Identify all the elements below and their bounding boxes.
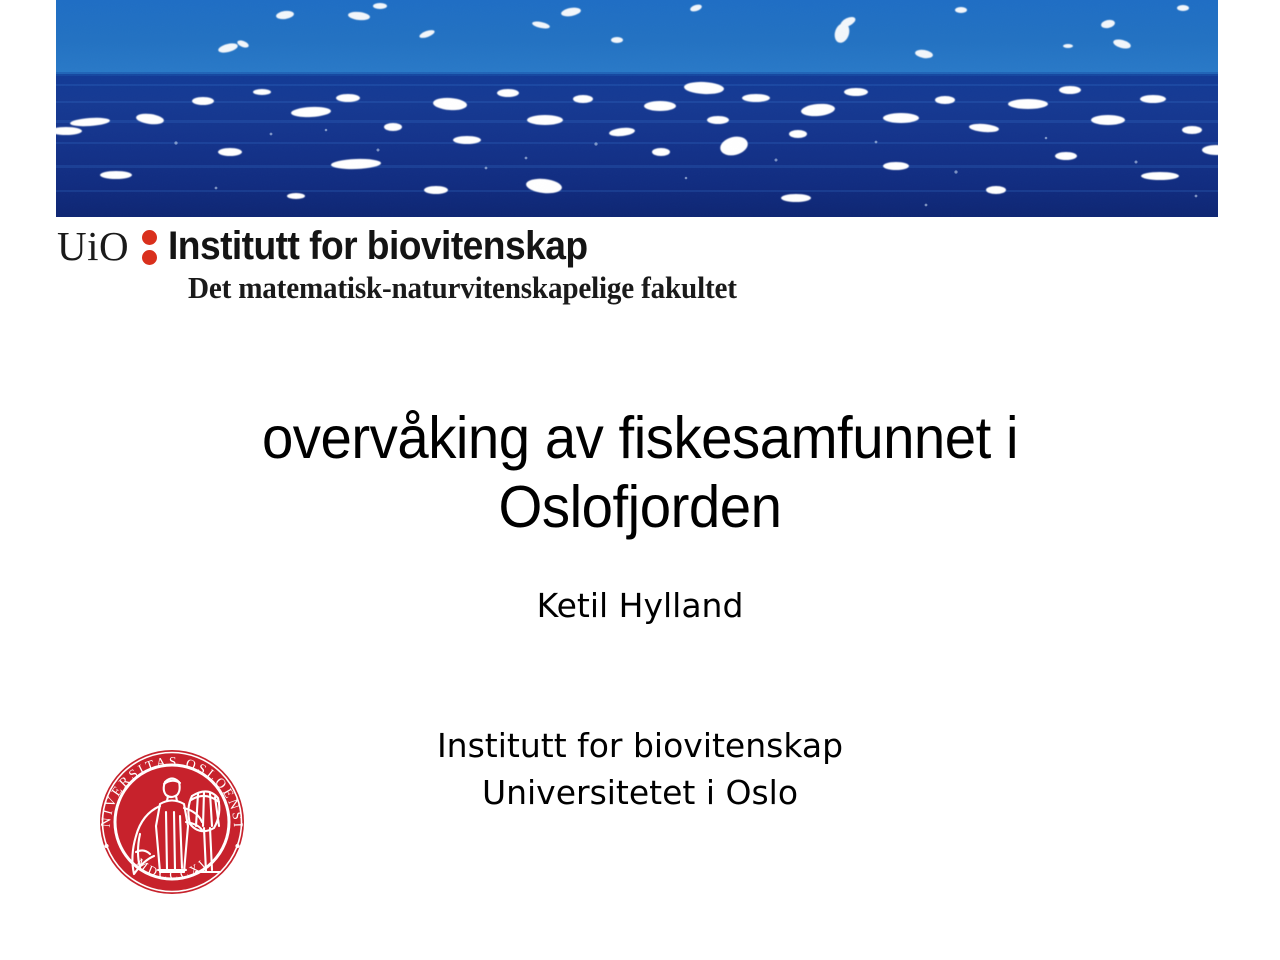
author-name: Ketil Hylland xyxy=(110,586,1170,626)
uio-logo-block: UiO Institutt for biovitenskap Det matem… xyxy=(57,224,957,314)
uio-colon-dots-icon xyxy=(142,228,157,265)
sea-photo-banner xyxy=(56,0,1218,217)
affiliation-line-university: Universitetet i Oslo xyxy=(110,769,1170,816)
slide-root: UiO Institutt for biovitenskap Det matem… xyxy=(0,0,1280,960)
affiliation-block: Institutt for biovitenskap Universitetet… xyxy=(110,722,1170,816)
slide-title: overvåking av fiskesamfunnet i Oslofjord… xyxy=(134,404,1146,542)
uio-logo-row: UiO Institutt for biovitenskap xyxy=(57,224,957,268)
institute-name: Institutt for biovitenskap xyxy=(168,226,588,266)
affiliation-line-institute: Institutt for biovitenskap xyxy=(110,722,1170,769)
university-of-oslo-seal-icon: UNIVERSITAS OSLOENSIS MDCCCXI xyxy=(88,742,256,902)
uio-wordmark: UiO xyxy=(57,226,129,267)
faculty-name: Det matematisk-naturvitenskapelige fakul… xyxy=(188,271,737,305)
